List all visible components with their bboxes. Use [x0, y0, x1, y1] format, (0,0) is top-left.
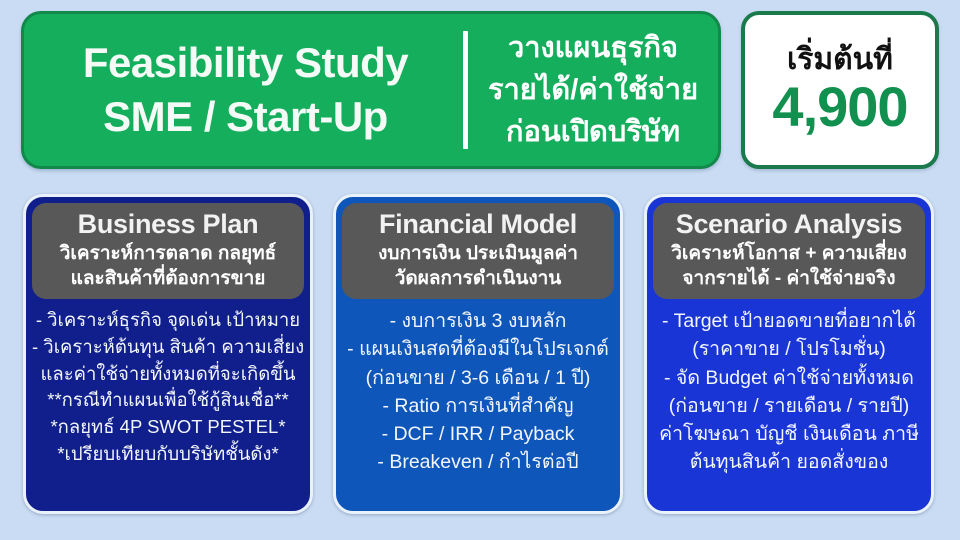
card-subtitle-th-1: วิเคราะห์โอกาส + ความเสี่ยง: [657, 241, 921, 266]
card-body-line: ต้นทุนสินค้า ยอดสั่งของ: [653, 448, 925, 476]
price-label: เริ่มต้นที่: [787, 43, 893, 76]
card-body-line: - DCF / IRR / Payback: [342, 420, 614, 448]
price-box: เริ่มต้นที่ 4,900: [741, 11, 939, 169]
card-body-line: - จัด Budget ค่าใช้จ่ายทั้งหมด: [653, 364, 925, 392]
service-card-business-plan: Business Plan วิเคราะห์การตลาด กลยุทธ์ แ…: [23, 194, 313, 514]
card-body-line: (ก่อนขาย / รายเดือน / รายปี): [653, 392, 925, 420]
card-header-business-plan: Business Plan วิเคราะห์การตลาด กลยุทธ์ แ…: [32, 203, 304, 299]
card-body-line: - แผนเงินสดที่ต้องมีในโปรเจกต์: [342, 335, 614, 363]
card-body-line: **กรณีทำแผนเพื่อใช้กู้สินเชื่อ**: [32, 387, 304, 414]
card-body-line: - งบการเงิน 3 งบหลัก: [342, 307, 614, 335]
card-body-line: *เปรียบเทียบกับบริษัทชั้นดัง*: [32, 441, 304, 468]
card-subtitle-th-1: วิเคราะห์การตลาด กลยุทธ์: [36, 241, 300, 266]
banner-title-line-2: SME / Start-Up: [103, 90, 388, 144]
card-body-line: ค่าโฆษณา บัญชี เงินเดือน ภาษี: [653, 420, 925, 448]
banner-thai-line-2: รายได้/ค่าใช้จ่าย: [488, 69, 698, 111]
service-card-scenario-analysis: Scenario Analysis วิเคราะห์โอกาส + ความเ…: [644, 194, 934, 514]
banner-title-line-1: Feasibility Study: [83, 36, 408, 90]
promo-banner: Feasibility Study SME / Start-Up วางแผนธ…: [21, 11, 721, 169]
card-body-business-plan: - วิเคราะห์ธุรกิจ จุดเด่น เป้าหมาย - วิเ…: [26, 299, 310, 467]
banner-thai-line-1: วางแผนธุรกิจ: [508, 27, 678, 69]
card-subtitle-th-2: วัดผลการดำเนินงาน: [346, 266, 610, 291]
card-body-financial-model: - งบการเงิน 3 งบหลัก - แผนเงินสดที่ต้องม…: [336, 299, 620, 475]
card-header-scenario-analysis: Scenario Analysis วิเคราะห์โอกาส + ความเ…: [653, 203, 925, 299]
banner-thai-line-3: ก่อนเปิดบริษัท: [506, 111, 680, 153]
card-title-en: Financial Model: [346, 209, 610, 241]
card-body-scenario-analysis: - Target เป้ายอดขายที่อยากได้ (ราคาขาย /…: [647, 299, 931, 475]
card-body-line: - Breakeven / กำไรต่อปี: [342, 448, 614, 476]
card-body-line: (ราคาขาย / โปรโมชั่น): [653, 335, 925, 363]
card-body-line: - Target เป้ายอดขายที่อยากได้: [653, 307, 925, 335]
card-body-line: - วิเคราะห์ต้นทุน สินค้า ความเสี่ยง: [32, 334, 304, 361]
banner-thai-block: วางแผนธุรกิจ รายได้/ค่าใช้จ่าย ก่อนเปิดบ…: [468, 14, 718, 166]
header-banner-row: Feasibility Study SME / Start-Up วางแผนธ…: [0, 0, 960, 182]
card-body-line: - Ratio การเงินที่สำคัญ: [342, 392, 614, 420]
banner-title-block: Feasibility Study SME / Start-Up: [24, 14, 463, 166]
card-body-line: และค่าใช้จ่ายทั้งหมดที่จะเกิดขึ้น: [32, 361, 304, 388]
price-amount: 4,900: [772, 78, 907, 137]
service-cards-row: Business Plan วิเคราะห์การตลาด กลยุทธ์ แ…: [0, 186, 960, 526]
card-subtitle-th-2: และสินค้าที่ต้องการขาย: [36, 266, 300, 291]
card-body-line: (ก่อนขาย / 3-6 เดือน / 1 ปี): [342, 364, 614, 392]
card-title-en: Scenario Analysis: [657, 209, 921, 241]
card-subtitle-th-1: งบการเงิน ประเมินมูลค่า: [346, 241, 610, 266]
card-subtitle-th-2: จากรายได้ - ค่าใช้จ่ายจริง: [657, 266, 921, 291]
card-header-financial-model: Financial Model งบการเงิน ประเมินมูลค่า …: [342, 203, 614, 299]
card-body-line: - วิเคราะห์ธุรกิจ จุดเด่น เป้าหมาย: [32, 307, 304, 334]
card-body-line: *กลยุทธ์ 4P SWOT PESTEL*: [32, 414, 304, 441]
card-title-en: Business Plan: [36, 209, 300, 241]
service-card-financial-model: Financial Model งบการเงิน ประเมินมูลค่า …: [333, 194, 623, 514]
